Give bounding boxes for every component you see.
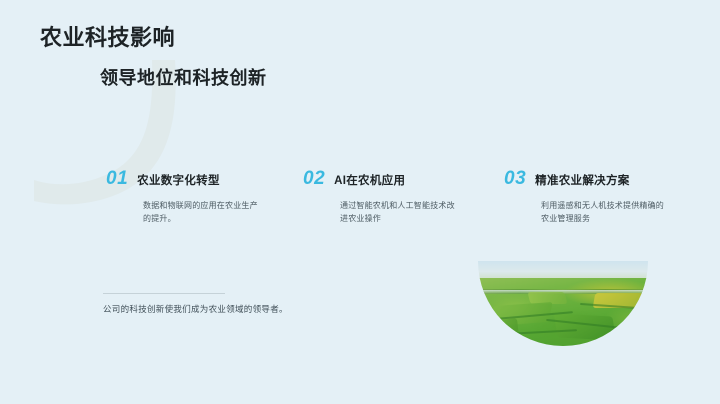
photo-field (481, 318, 520, 339)
feature-heading: 02 AI在农机应用 (303, 168, 508, 190)
page-subtitle: 领导地位和科技创新 (100, 68, 267, 90)
feature-number: 02 (303, 168, 325, 190)
feature-heading: 01 农业数字化转型 (106, 168, 311, 190)
farmland-photo (478, 261, 648, 346)
feature-column-1: 01 农业数字化转型 数据和物联网的应用在农业生产的提升。 (106, 168, 311, 225)
photo-field (554, 314, 616, 341)
feature-columns: 01 农业数字化转型 数据和物联网的应用在农业生产的提升。 02 AI在农机应用… (0, 168, 720, 258)
feature-column-3: 03 精准农业解决方案 利用遥感和无人机技术提供精确的农业管理服务 (504, 168, 709, 225)
summary-divider (103, 293, 225, 294)
feature-description: 利用遥感和无人机技术提供精确的农业管理服务 (541, 199, 669, 225)
feature-title: AI在农机应用 (334, 172, 405, 188)
feature-number: 01 (106, 168, 128, 190)
presentation-slide: 农业科技影响 领导地位和科技创新 01 农业数字化转型 数据和物联网的应用在农业… (0, 0, 720, 404)
feature-title: 精准农业解决方案 (535, 172, 629, 188)
feature-description: 通过智能农机和人工智能技术改进农业操作 (340, 199, 462, 225)
feature-description: 数据和物联网的应用在农业生产的提升。 (143, 199, 265, 225)
photo-sky (478, 261, 648, 280)
summary-text: 公司的科技创新使我们成为农业领域的领导者。 (103, 303, 288, 315)
feature-title: 农业数字化转型 (137, 172, 220, 188)
feature-column-2: 02 AI在农机应用 通过智能农机和人工智能技术改进农业操作 (303, 168, 508, 225)
photo-land (478, 278, 648, 346)
feature-number: 03 (504, 168, 526, 190)
page-title: 农业科技影响 (40, 25, 175, 51)
feature-heading: 03 精准农业解决方案 (504, 168, 709, 190)
